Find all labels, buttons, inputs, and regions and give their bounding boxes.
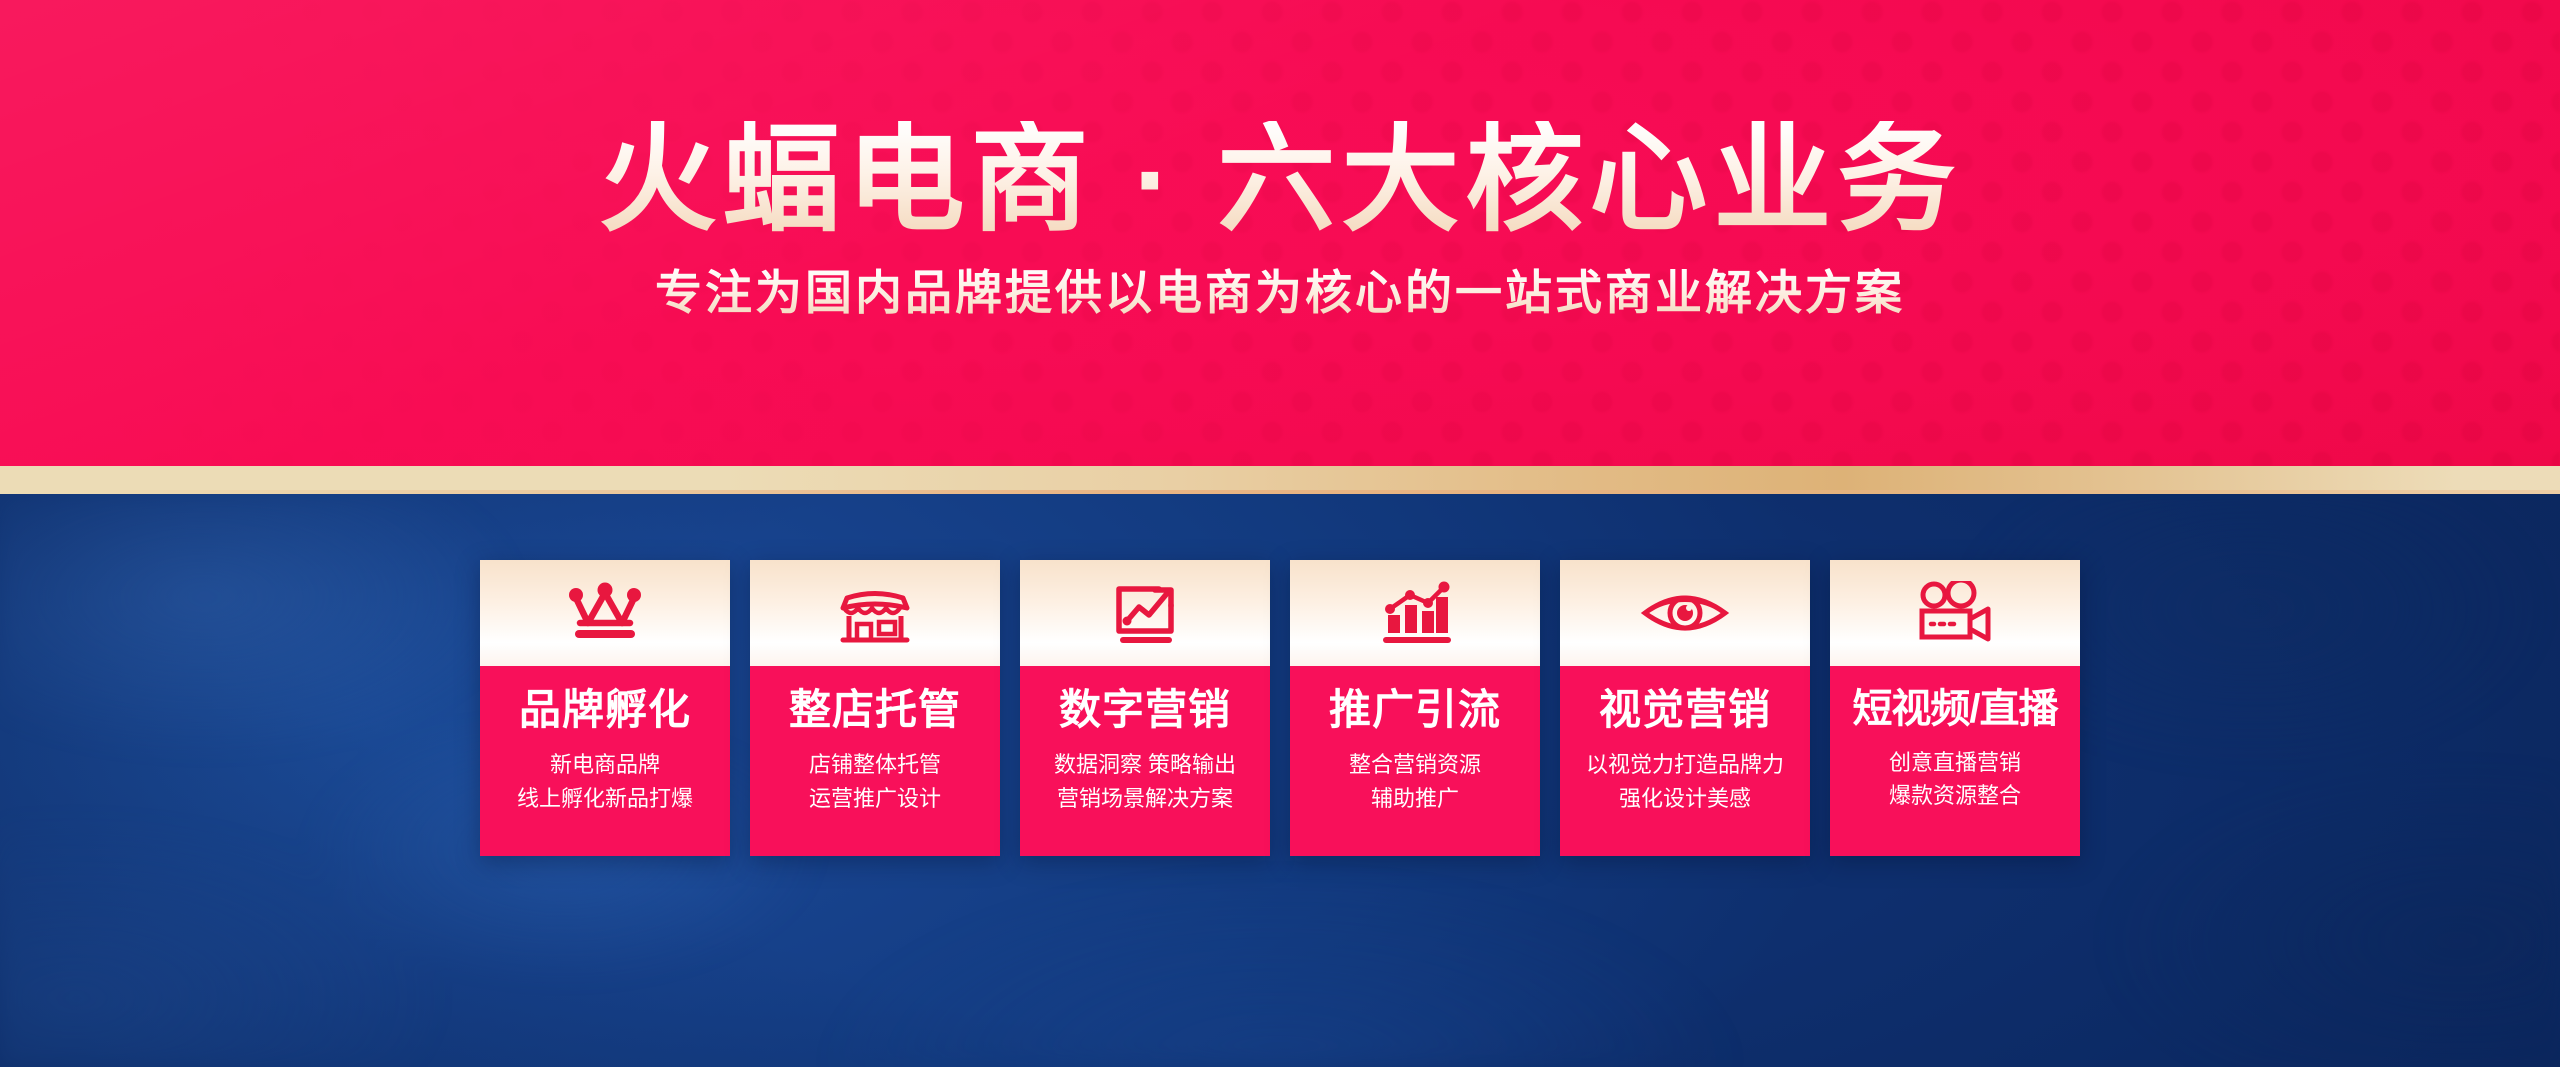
card-icon-area — [480, 560, 730, 666]
service-card[interactable]: 视觉营销 以视觉力打造品牌力 强化设计美感 — [1560, 560, 1810, 856]
hero-section: 火蝠电商 · 六大核心业务 专注为国内品牌提供以电商为核心的一站式商业解决方案 — [0, 0, 2560, 466]
crown-icon — [566, 581, 644, 645]
card-description: 新电商品牌 线上孵化新品打爆 — [517, 748, 693, 815]
service-card[interactable]: 短视频/直播 创意直播营销 爆款资源整合 — [1830, 560, 2080, 856]
card-title: 品牌孵化 — [519, 686, 691, 734]
card-body: 短视频/直播 创意直播营销 爆款资源整合 — [1830, 666, 2080, 856]
service-card-list: 品牌孵化 新电商品牌 线上孵化新品打爆 — [480, 560, 2080, 856]
card-icon-area — [1830, 560, 2080, 666]
card-desc-line: 爆款资源整合 — [1889, 779, 2021, 812]
card-icon-area — [750, 560, 1000, 666]
card-description: 店铺整体托管 运营推广设计 — [809, 748, 941, 815]
card-icon-area — [1290, 560, 1540, 666]
page-title: 火蝠电商 · 六大核心业务 — [599, 121, 1962, 239]
service-card[interactable]: 品牌孵化 新电商品牌 线上孵化新品打爆 — [480, 560, 730, 856]
service-card[interactable]: 推广引流 整合营销资源 辅助推广 — [1290, 560, 1540, 856]
card-desc-line: 整合营销资源 — [1349, 748, 1481, 781]
card-body: 整店托管 店铺整体托管 运营推广设计 — [750, 666, 1000, 856]
card-title: 整店托管 — [789, 686, 961, 734]
service-card[interactable]: 数字营销 数据洞察 策略输出 营销场景解决方案 — [1020, 560, 1270, 856]
card-icon-area — [1560, 560, 1810, 666]
card-title: 数字营销 — [1059, 686, 1231, 734]
card-body: 品牌孵化 新电商品牌 线上孵化新品打爆 — [480, 666, 730, 856]
bar-chart-line-icon — [1378, 579, 1452, 647]
card-desc-line: 店铺整体托管 — [809, 748, 941, 781]
card-desc-line: 线上孵化新品打爆 — [517, 782, 693, 815]
storefront-icon — [837, 580, 913, 646]
eye-icon — [1639, 585, 1731, 641]
card-desc-line: 创意直播营销 — [1889, 746, 2021, 779]
card-description: 创意直播营销 爆款资源整合 — [1889, 746, 2021, 813]
card-desc-line: 以视觉力打造品牌力 — [1586, 748, 1784, 781]
page-subtitle: 专注为国内品牌提供以电商为核心的一站式商业解决方案 — [655, 267, 1905, 319]
card-description: 以视觉力打造品牌力 强化设计美感 — [1586, 748, 1784, 815]
services-panel: HOTFOR E-COMMERCE — [0, 494, 2560, 1067]
video-camera-icon — [1914, 581, 1996, 645]
card-desc-line: 营销场景解决方案 — [1054, 782, 1236, 815]
trending-chart-icon — [1107, 579, 1183, 647]
card-title: 短视频/直播 — [1852, 686, 2057, 732]
gold-divider — [0, 466, 2560, 494]
card-desc-line: 新电商品牌 — [517, 748, 693, 781]
card-desc-line: 强化设计美感 — [1586, 782, 1784, 815]
service-card[interactable]: 整店托管 店铺整体托管 运营推广设计 — [750, 560, 1000, 856]
card-title: 推广引流 — [1329, 686, 1501, 734]
card-body: 推广引流 整合营销资源 辅助推广 — [1290, 666, 1540, 856]
card-desc-line: 数据洞察 策略输出 — [1054, 748, 1236, 781]
card-body: 数字营销 数据洞察 策略输出 营销场景解决方案 — [1020, 666, 1270, 856]
card-description: 整合营销资源 辅助推广 — [1349, 748, 1481, 815]
card-desc-line: 辅助推广 — [1349, 782, 1481, 815]
card-title: 视觉营销 — [1599, 686, 1771, 734]
card-body: 视觉营销 以视觉力打造品牌力 强化设计美感 — [1560, 666, 1810, 856]
card-description: 数据洞察 策略输出 营销场景解决方案 — [1054, 748, 1236, 815]
card-desc-line: 运营推广设计 — [809, 782, 941, 815]
card-icon-area — [1020, 560, 1270, 666]
promo-banner: 火蝠电商 · 六大核心业务 专注为国内品牌提供以电商为核心的一站式商业解决方案 … — [0, 0, 2560, 1067]
